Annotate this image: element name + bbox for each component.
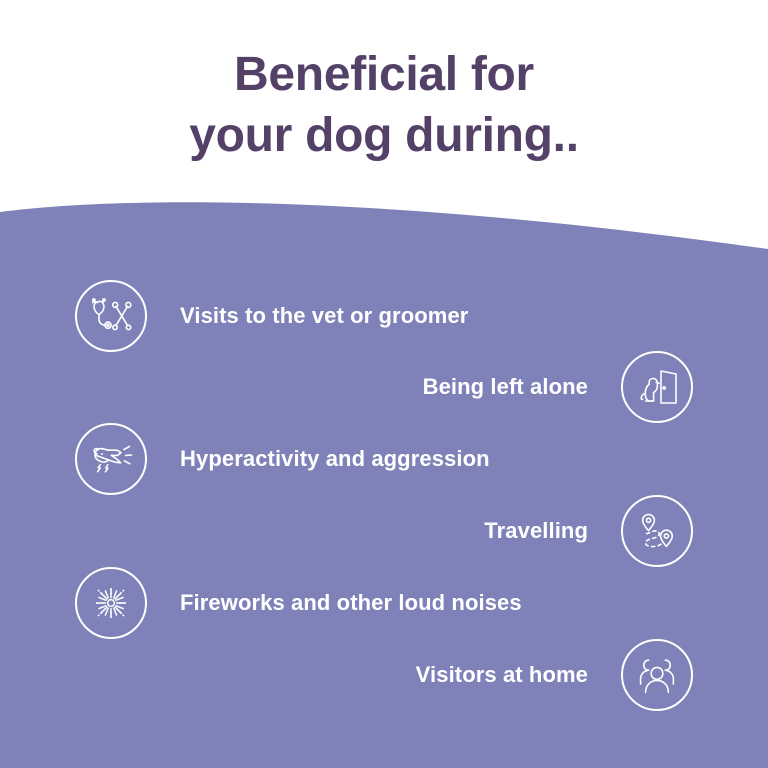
list-item-vet-groomer[interactable]: Visits to the vet or groomer <box>75 280 468 352</box>
benefit-list: Visits to the vet or groomer <box>0 0 768 768</box>
barking-dog-icon <box>75 423 147 495</box>
list-item-label: Visits to the vet or groomer <box>180 303 468 329</box>
list-item-label: Fireworks and other loud noises <box>180 590 522 616</box>
three-people-icon <box>621 639 693 711</box>
list-item-label: Visitors at home <box>416 662 588 688</box>
list-item-travelling[interactable]: Travelling <box>484 495 693 567</box>
list-item-label: Travelling <box>484 518 588 544</box>
list-item-fireworks[interactable]: Fireworks and other loud noises <box>75 567 522 639</box>
list-item-label: Being left alone <box>423 374 588 400</box>
infographic-canvas: Beneficial for your dog during.. <box>0 0 768 768</box>
dog-at-door-icon <box>621 351 693 423</box>
list-item-visitors[interactable]: Visitors at home <box>416 639 693 711</box>
list-item-label: Hyperactivity and aggression <box>180 446 490 472</box>
firework-burst-icon <box>75 567 147 639</box>
stethoscope-scissors-icon <box>75 280 147 352</box>
map-route-pins-icon <box>621 495 693 567</box>
list-item-left-alone[interactable]: Being left alone <box>423 351 693 423</box>
list-item-hyperactivity[interactable]: Hyperactivity and aggression <box>75 423 490 495</box>
